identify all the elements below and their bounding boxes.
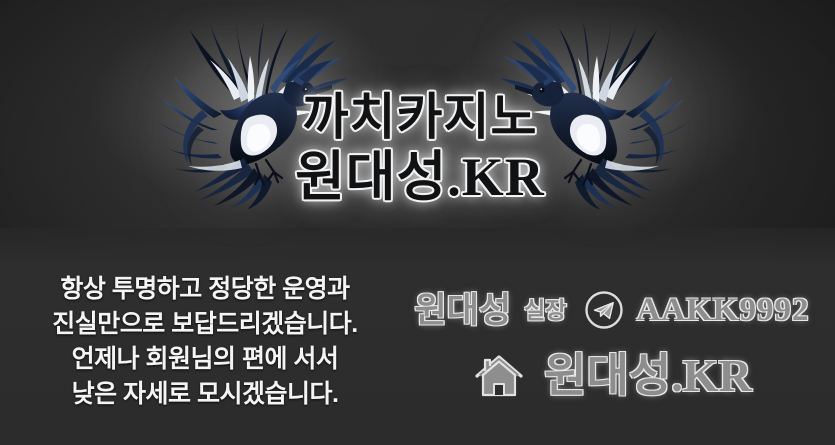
telegram-contact-row[interactable]: 원대성 실장 AAKK9992 xyxy=(402,283,822,337)
contact-block: 원대성 실장 AAKK9992 원대성 xyxy=(402,283,822,409)
slogan-block: 항상 투명하고 정당한 운영과 진실만으로 보답드리겠습니다. 언제나 회원님의… xyxy=(24,272,386,412)
brand-title: 까치카지노 원대성.KR xyxy=(255,92,585,204)
slogan-line: 언제나 회원님의 편에 서서 xyxy=(24,342,386,377)
brand-title-line-1: 까치카지노 xyxy=(255,92,585,142)
telegram-handle[interactable]: AAKK9992 xyxy=(636,294,809,327)
website-row[interactable]: 원대성.KR xyxy=(402,343,822,409)
site-url[interactable]: 원대성.KR xyxy=(544,353,751,399)
slogan-line: 진실만으로 보답드리겠습니다. xyxy=(24,307,386,342)
slogan-line: 낮은 자세로 모시겠습니다. xyxy=(24,377,386,412)
telegram-icon[interactable] xyxy=(584,290,624,330)
home-icon[interactable] xyxy=(472,351,526,401)
brand-title-line-2: 원대성.KR xyxy=(255,150,585,204)
manager-role: 실장 xyxy=(524,299,566,322)
slogan-line: 항상 투명하고 정당한 운영과 xyxy=(24,272,386,307)
manager-name: 원대성 xyxy=(415,293,512,328)
casino-promo-banner: 까치카지노 원대성.KR 항상 투명하고 정당한 운영과 진실만으로 보답드리겠… xyxy=(0,0,835,445)
